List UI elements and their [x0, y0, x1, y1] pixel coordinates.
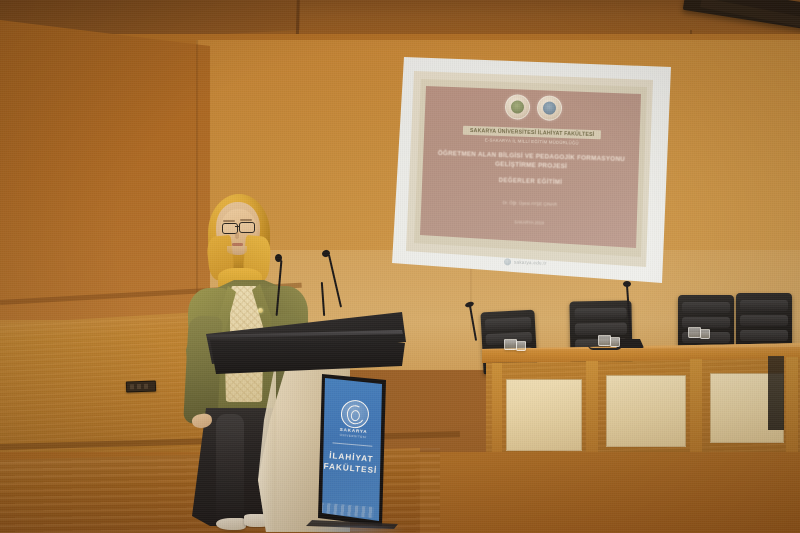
sakarya-university-logo-icon — [340, 399, 370, 429]
slide-footer: sakarya.edu.tr — [504, 258, 547, 266]
table-inset-panel — [506, 379, 582, 451]
presentation-slide: SAKARYA ÜNİVERSİTESİ İLAHİYAT FAKÜLTESİ … — [420, 86, 642, 248]
slide-date-line: SAKARYA 2019 — [420, 215, 640, 229]
lectern-body-edge — [258, 360, 276, 532]
conference-hall-photo: SAKARYA ÜNİVERSİTESİ İLAHİYAT FAKÜLTESİ … — [0, 0, 800, 533]
projection-screen: SAKARYA ÜNİVERSİTESİ İLAHİYAT FAKÜLTESİ … — [392, 57, 672, 283]
university-seal-icon — [504, 94, 530, 120]
table-inset-panel — [606, 375, 686, 447]
water-glass — [516, 341, 526, 351]
slide-subtitle: DEĞERLER EĞİTİMİ — [420, 175, 642, 188]
panel-microphone-head-icon — [623, 281, 631, 287]
eyeglasses-bridge — [235, 226, 240, 227]
slide-footer-text: sakarya.edu.tr — [514, 260, 547, 266]
wall-outlet-icon — [126, 380, 156, 392]
side-post — [768, 356, 784, 430]
lectern: SAKARYA ÜNİVERSİTESİ İLAHİYAT FAKÜLTESİ — [206, 312, 411, 533]
lectern-top-face — [206, 340, 406, 374]
chin — [227, 246, 247, 255]
eyebrow-left — [223, 220, 235, 222]
lectern-divider — [332, 442, 372, 446]
water-glass — [700, 329, 710, 339]
slide-subbanner: E-SAKARYA İL MİLLİ EĞİTİM MÜDÜRLÜĞÜ — [421, 135, 642, 147]
lectern-floor-glow — [302, 524, 406, 533]
table-divider — [586, 361, 598, 465]
ministry-seal-icon — [536, 95, 562, 121]
water-glass — [610, 337, 620, 347]
table-divider — [690, 359, 702, 463]
eyeglasses-lens-right — [239, 222, 255, 233]
eyebrow-right — [240, 219, 252, 221]
lectern-microphone-head-icon — [275, 254, 282, 262]
nose — [235, 232, 239, 239]
table-divider — [492, 363, 502, 465]
lectern-display[interactable]: SAKARYA ÜNİVERSİTESİ İLAHİYAT FAKÜLTESİ — [322, 378, 382, 521]
left-wall-plane — [0, 20, 210, 320]
slide-title: ÖĞRETMEN ALAN BİLGİSİ VE PEDAGOJİK FORMA… — [434, 149, 628, 174]
footer-mark-icon — [504, 258, 511, 265]
slide-speaker-line: Dr. Öğr. Üyesi AYŞE ÇINAR — [420, 196, 641, 211]
slide-logo-row — [422, 91, 642, 123]
table-divider — [786, 357, 798, 461]
